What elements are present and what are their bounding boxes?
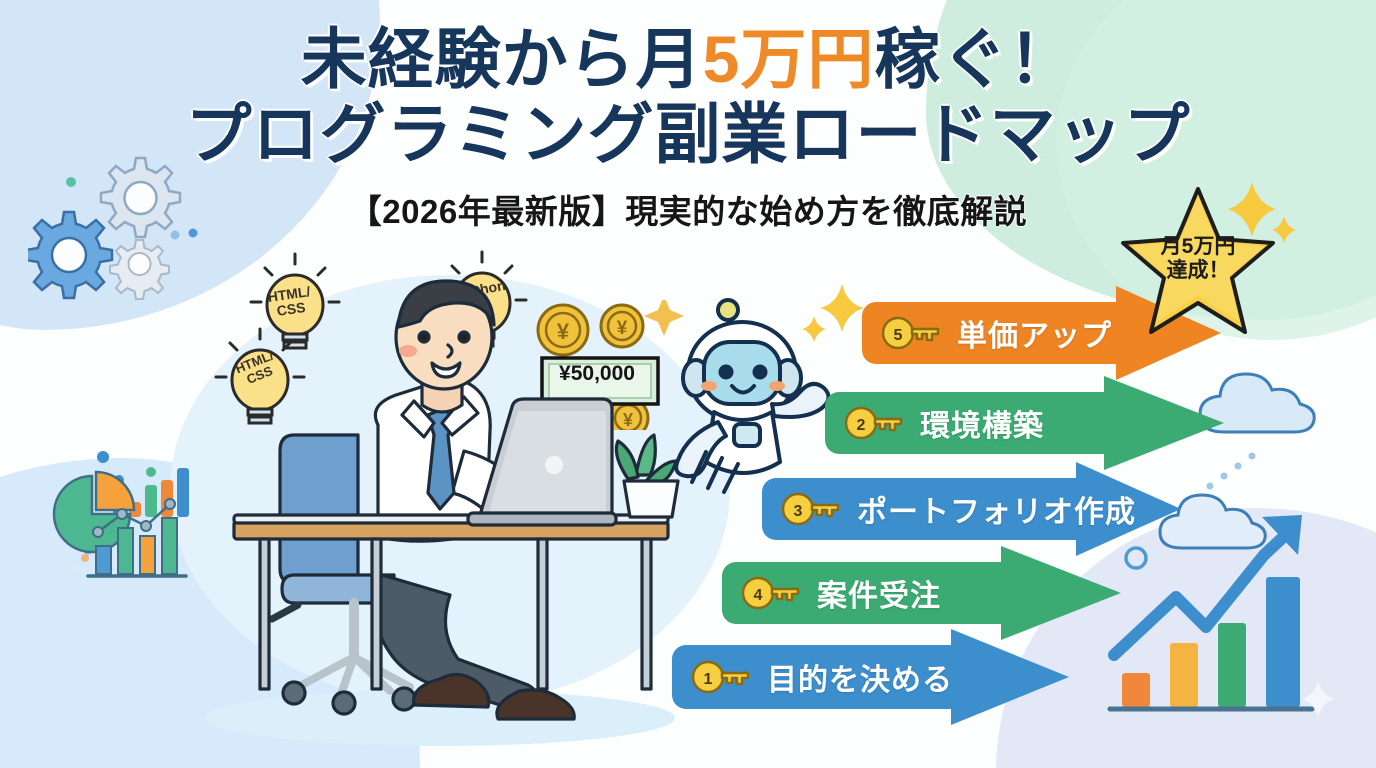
key-icon-2: 2 (845, 406, 907, 440)
sparkle-icon-star (1222, 178, 1302, 258)
roadmap-step-2[interactable]: 2 環境構築 (825, 392, 1225, 454)
title-line-1-highlight: 5万円 (703, 22, 875, 96)
antenna-bulb (718, 300, 738, 320)
roadmap-step-4[interactable]: 4 案件受注 (722, 562, 1122, 624)
svg-text:1: 1 (704, 671, 713, 688)
star-badge-line2: 達成！ (1118, 259, 1278, 283)
roadmap-step-4-label: 案件受注 (817, 571, 957, 615)
svg-text:5: 5 (894, 327, 903, 344)
key-icon-4: 4 (742, 576, 804, 610)
roadmap-step-1[interactable]: 1 目的を決める (672, 645, 1072, 709)
svg-text:4: 4 (754, 587, 763, 604)
gear-small-gray (110, 240, 169, 299)
title-line-1: 未経験から月5万円稼ぐ！ (0, 24, 1376, 95)
arrow-head-4 (1001, 546, 1121, 640)
title-line-1-prefix: 未経験から月 (301, 22, 703, 96)
arrow-head-2 (1104, 376, 1224, 470)
key-icon-1: 1 (692, 660, 754, 694)
roadmap-step-2-label: 環境構築 (920, 401, 1060, 445)
left-chart-group (40, 418, 230, 598)
title-line-1-suffix: 稼ぐ！ (874, 22, 1075, 96)
sparkle-icon-group (800, 282, 870, 352)
key-icon-3: 3 (782, 492, 844, 526)
svg-text:2: 2 (857, 417, 866, 434)
title-line-2: プログラミング副業ロードマップ (0, 99, 1376, 170)
roadmap-step-3[interactable]: 3 ポートフォリオ作成 (762, 478, 1182, 540)
key-icon-5: 5 (882, 316, 944, 350)
growth-bar-2 (1170, 643, 1198, 707)
growth-bar-4 (1266, 577, 1300, 707)
roadmap-step-5-label: 単価アップ (957, 311, 1128, 355)
roadmap-step-1-label: 目的を決める (767, 655, 969, 699)
growth-bar-3 (1218, 623, 1246, 707)
person-at-desk-illustration (232, 275, 692, 735)
svg-text:3: 3 (794, 503, 803, 520)
growth-bar-1 (1122, 673, 1150, 707)
poster-canvas: HTML/ CSS HTML/ CSS Python ¥ ¥ (0, 0, 1376, 768)
roadmap-step-3-label: ポートフォリオ作成 (857, 487, 1152, 531)
